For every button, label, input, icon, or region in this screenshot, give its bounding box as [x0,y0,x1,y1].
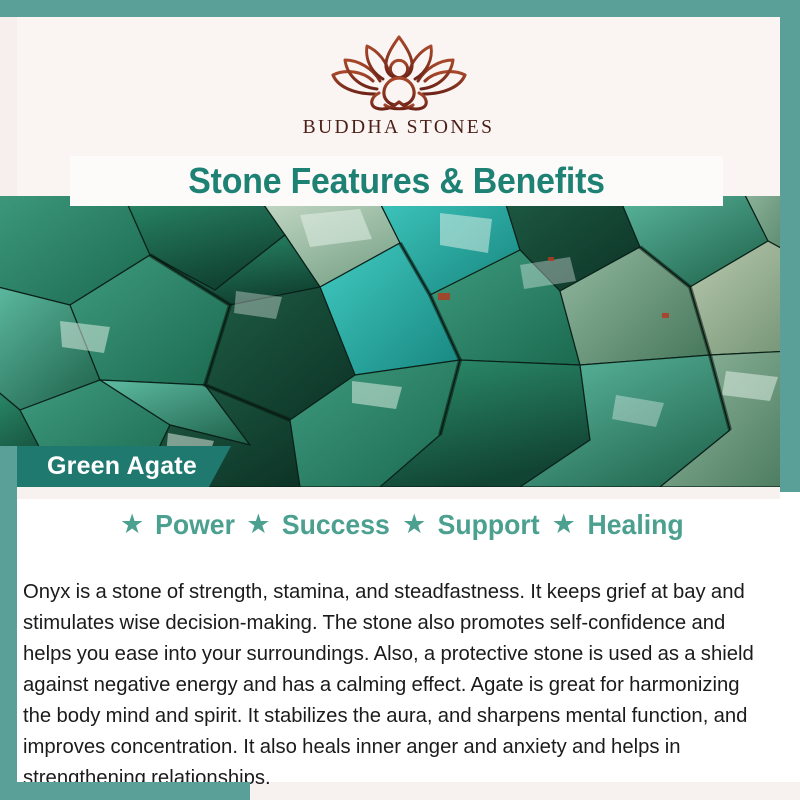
star-icon: ★ [246,511,270,538]
brand-name: BUDDHA STONES [303,117,495,139]
star-icon: ★ [120,511,144,538]
description-panel: ★ Power ★ Success ★ Support ★ Healing On… [17,487,780,782]
stone-name-ribbon: Green Agate [17,446,231,487]
page-title: Stone Features & Benefits [188,160,605,202]
keyword-item-power: ★ Power [111,509,237,541]
description-text: Onyx is a stone of strength, stamina, an… [23,576,763,793]
keyword-item-success: ★ Success [237,509,393,541]
accent-bar-bottom-left [0,782,250,800]
keyword-label: Power [155,509,235,541]
keyword-item-support: ★ Support [393,509,543,541]
stone-name: Green Agate [47,452,197,481]
lotus-meditation-logo-icon [315,31,483,115]
stone-benefits-infographic: BUDDHA STONES Stone Features & Benefits [0,0,800,800]
keyword-label: Success [282,509,390,541]
keyword-item-healing: ★ Healing [543,509,686,541]
panel-top-strip [17,487,780,499]
brand-logo-block: BUDDHA STONES [17,31,780,139]
keyword-label: Support [438,509,540,541]
accent-bar-top [0,0,800,17]
header-inner-panel: BUDDHA STONES Stone Features & Benefits [17,17,780,196]
header-section: BUDDHA STONES Stone Features & Benefits [0,0,800,196]
keyword-label: Healing [587,509,683,541]
green-agate-raw-stones-photo [0,195,800,487]
accent-bar-right [780,0,800,492]
accent-bar-left [0,446,17,800]
title-banner: Stone Features & Benefits [70,156,723,206]
star-icon: ★ [402,511,426,538]
keyword-list: ★ Power ★ Success ★ Support ★ Healing [17,509,780,541]
star-icon: ★ [552,511,576,538]
